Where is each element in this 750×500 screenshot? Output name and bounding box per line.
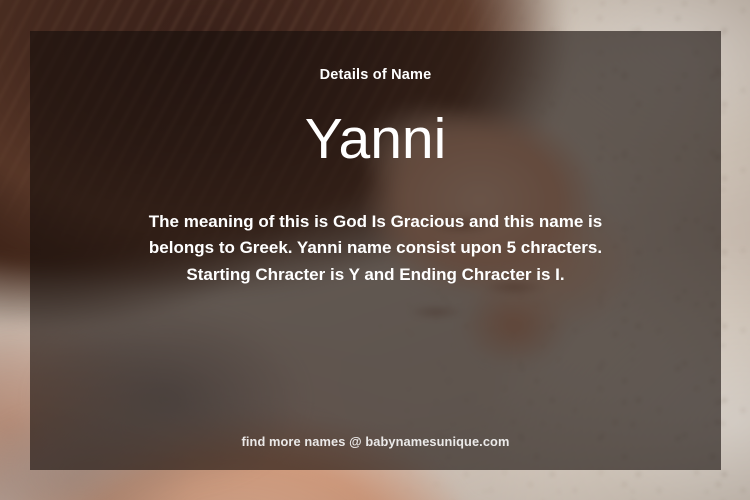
footer-attribution: find more names @ babynamesunique.com — [30, 434, 721, 449]
card-kicker: Details of Name — [320, 68, 432, 83]
name-detail-card: Details of Name Yanni The meaning of thi… — [0, 0, 750, 500]
content-overlay-panel: Details of Name Yanni The meaning of thi… — [30, 31, 721, 470]
name-description: The meaning of this is God Is Gracious a… — [120, 209, 632, 289]
page-title: Yanni — [305, 111, 447, 168]
